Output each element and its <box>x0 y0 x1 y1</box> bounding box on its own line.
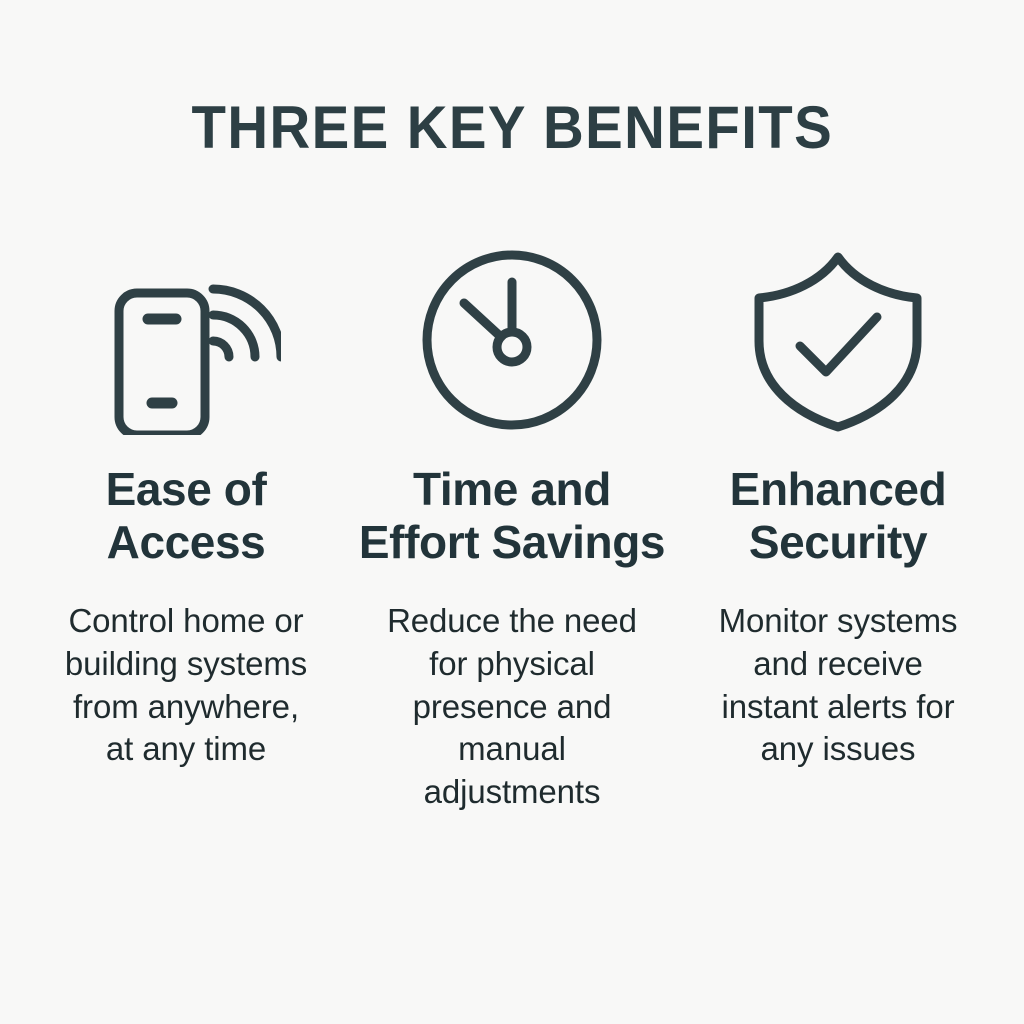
benefit-description: Reduce the need for physical presence an… <box>386 600 638 814</box>
benefit-card-time-and-effort-savings: Time and Effort Savings Reduce the need … <box>349 245 675 814</box>
benefit-heading: Enhanced Security <box>683 463 993 570</box>
page-title: THREE KEY BENEFITS <box>191 96 833 159</box>
shield-check-icon <box>743 245 933 435</box>
benefit-description: Monitor systems and receive instant aler… <box>702 600 974 772</box>
benefit-card-ease-of-access: Ease of Access Control home or building … <box>23 245 349 771</box>
clock-icon <box>417 245 607 435</box>
benefits-poster: THREE KEY BENEFITS Ease of Access Contro… <box>0 0 1024 1024</box>
benefit-card-enhanced-security: Enhanced Security Monitor systems and re… <box>675 245 1001 771</box>
benefits-columns: Ease of Access Control home or building … <box>0 245 1024 814</box>
benefit-heading: Ease of Access <box>31 463 341 570</box>
benefit-description: Control home or building systems from an… <box>61 600 311 772</box>
smartphone-wireless-icon <box>91 245 281 435</box>
benefit-heading: Time and Effort Savings <box>357 463 667 570</box>
